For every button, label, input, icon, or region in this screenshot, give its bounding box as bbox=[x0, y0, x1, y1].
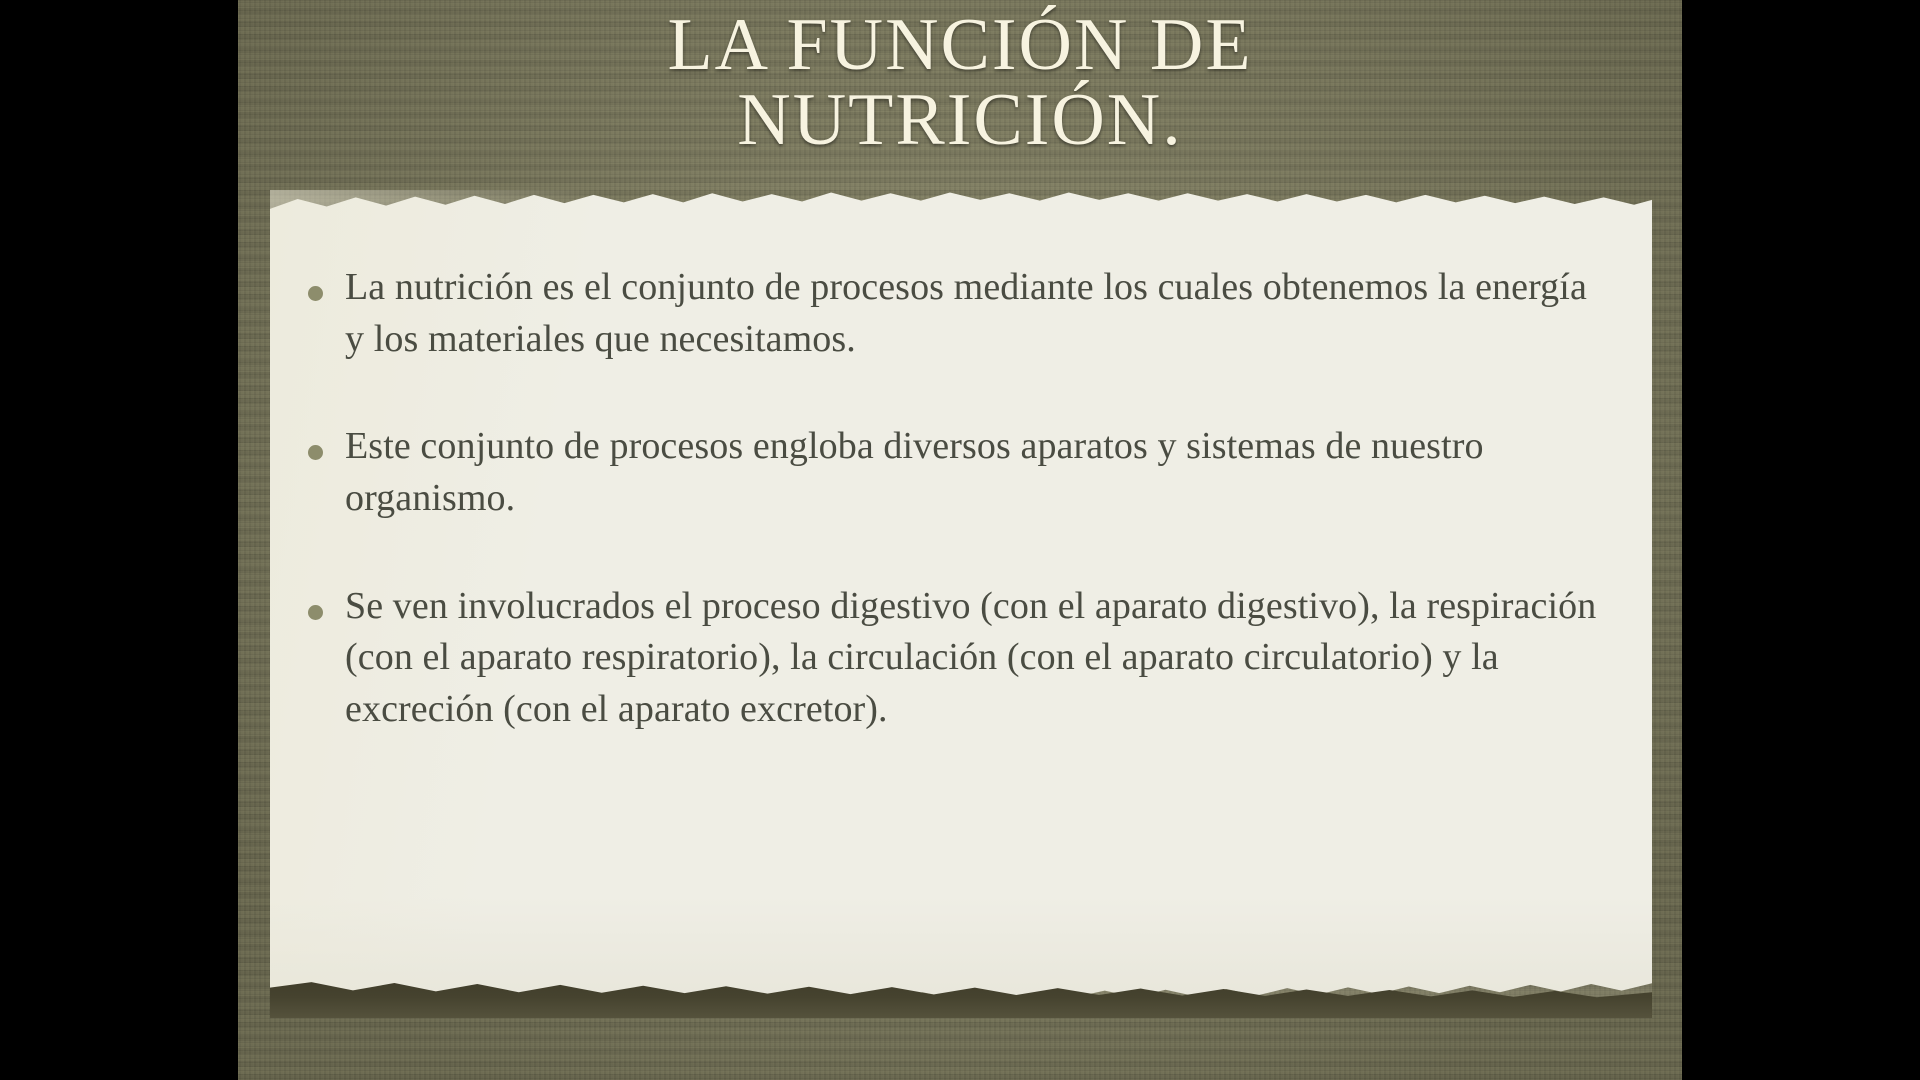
slide-canvas: LA FUNCIÓN DE NUTRICIÓN. La nutrición es… bbox=[238, 0, 1682, 1080]
list-item: La nutrición es el conjunto de procesos … bbox=[308, 262, 1608, 365]
bullet-dot-icon bbox=[308, 605, 323, 620]
list-item: Este conjunto de procesos engloba divers… bbox=[308, 421, 1608, 524]
slide-title: LA FUNCIÓN DE NUTRICIÓN. bbox=[238, 8, 1682, 159]
letterbox-right bbox=[1682, 0, 1920, 1080]
letterbox-left bbox=[0, 0, 238, 1080]
bullet-dot-icon bbox=[308, 286, 323, 301]
bullet-text: La nutrición es el conjunto de procesos … bbox=[345, 262, 1608, 365]
list-item: Se ven involucrados el proceso digestivo… bbox=[308, 581, 1608, 736]
bullet-list: La nutrición es el conjunto de procesos … bbox=[308, 262, 1608, 736]
bullet-text: Este conjunto de procesos engloba divers… bbox=[345, 421, 1608, 524]
bullet-text: Se ven involucrados el proceso digestivo… bbox=[345, 581, 1608, 736]
slide-title-line-2: NUTRICIÓN. bbox=[238, 83, 1682, 158]
bullet-dot-icon bbox=[308, 445, 323, 460]
slide-viewer: LA FUNCIÓN DE NUTRICIÓN. La nutrición es… bbox=[0, 0, 1920, 1080]
slide-title-line-1: LA FUNCIÓN DE bbox=[238, 8, 1682, 83]
